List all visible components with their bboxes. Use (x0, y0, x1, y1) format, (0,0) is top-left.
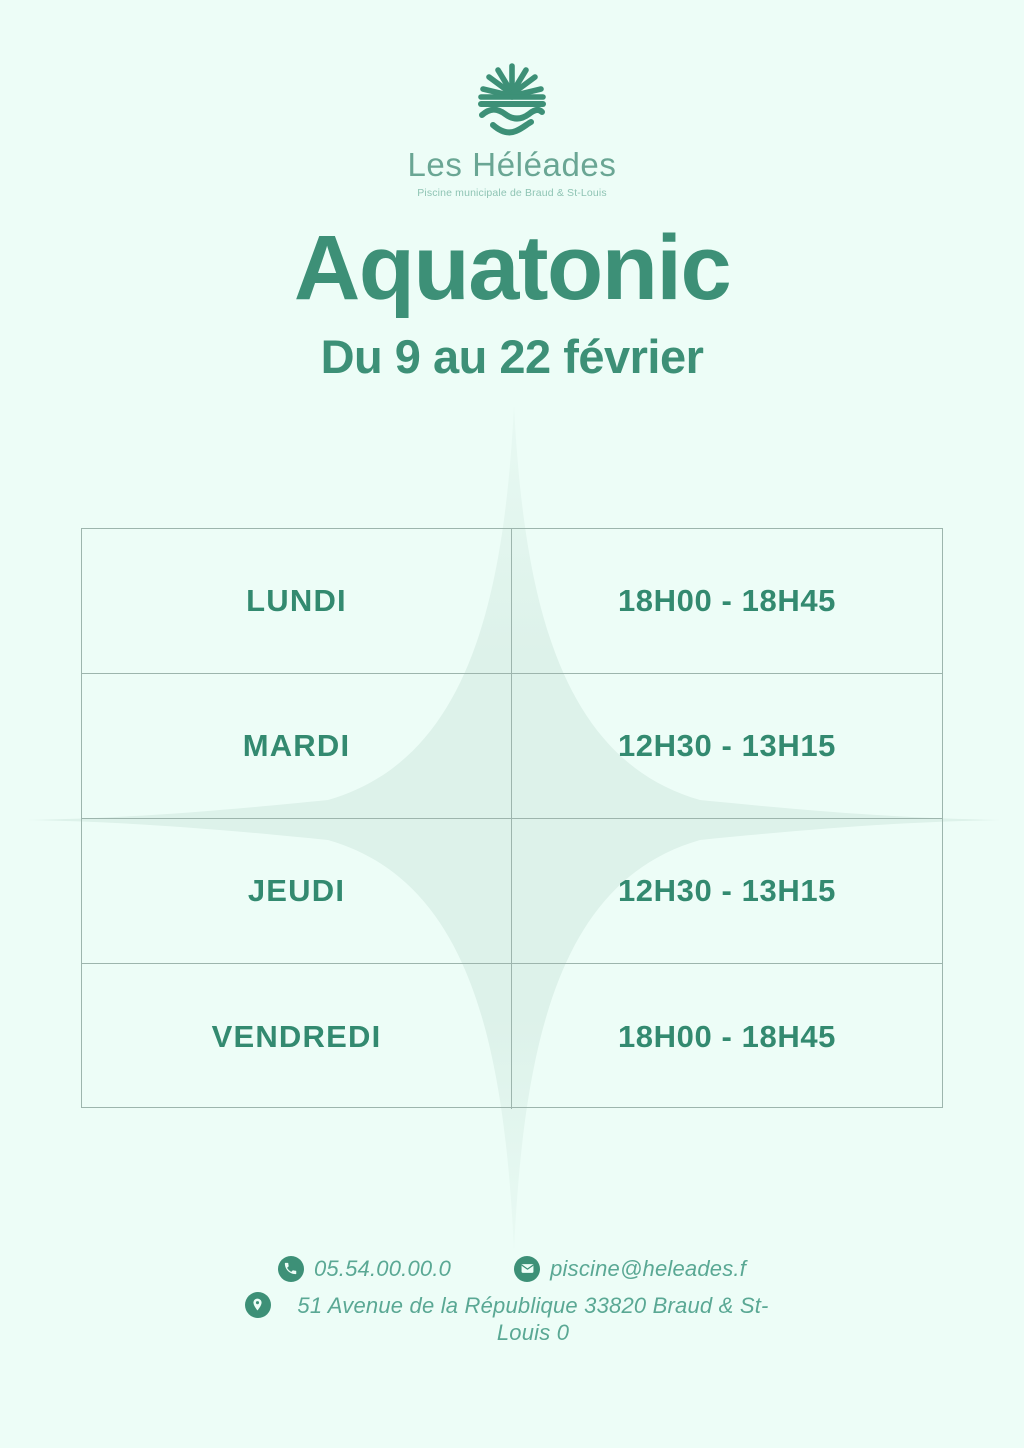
brand-tagline: Piscine municipale de Braud & St-Louis (0, 188, 1024, 199)
day-label: MARDI (243, 728, 351, 764)
schedule-table: LUNDI 18H00 - 18H45 MARDI 12H30 - 13H15 … (81, 528, 943, 1108)
poster-title: Aquatonic (0, 222, 1024, 314)
contact-block: 05.54.00.00.0 piscine@heleades.f (0, 1255, 1024, 1347)
table-cell-time: 18H00 - 18H45 (512, 529, 942, 673)
brand-block: Les Héléades Piscine municipale de Braud… (0, 62, 1024, 199)
contact-email[interactable]: piscine@heleades.f (514, 1255, 746, 1283)
email-address: piscine@heleades.f (550, 1255, 746, 1283)
sun-over-waves-icon (472, 62, 552, 136)
contact-address[interactable]: 51 Avenue de la République 33820 Braud &… (0, 1292, 1024, 1347)
table-cell-day: VENDREDI (82, 964, 512, 1109)
table-row: MARDI 12H30 - 13H15 (82, 674, 942, 819)
poster-canvas: Les Héléades Piscine municipale de Braud… (0, 0, 1024, 1448)
time-label: 18H00 - 18H45 (618, 1019, 836, 1055)
table-cell-time: 18H00 - 18H45 (512, 964, 942, 1109)
table-row: VENDREDI 18H00 - 18H45 (82, 964, 942, 1109)
brand-name: Les Héléades (0, 148, 1024, 181)
location-pin-icon (245, 1292, 271, 1318)
time-label: 18H00 - 18H45 (618, 583, 836, 619)
table-cell-time: 12H30 - 13H15 (512, 819, 942, 963)
day-label: VENDREDI (212, 1019, 382, 1055)
table-cell-time: 12H30 - 13H15 (512, 674, 942, 818)
day-label: JEUDI (248, 873, 345, 909)
table-cell-day: LUNDI (82, 529, 512, 673)
address-text: 51 Avenue de la République 33820 Braud &… (281, 1292, 786, 1347)
table-row: LUNDI 18H00 - 18H45 (82, 529, 942, 674)
contact-phone[interactable]: 05.54.00.00.0 (278, 1255, 451, 1283)
phone-icon (278, 1256, 304, 1282)
contact-row-primary: 05.54.00.00.0 piscine@heleades.f (0, 1255, 1024, 1283)
table-row: JEUDI 12H30 - 13H15 (82, 819, 942, 964)
envelope-icon (514, 1256, 540, 1282)
time-label: 12H30 - 13H15 (618, 873, 836, 909)
phone-number: 05.54.00.00.0 (314, 1255, 451, 1283)
poster-date-range: Du 9 au 22 février (0, 333, 1024, 380)
day-label: LUNDI (246, 583, 347, 619)
table-cell-day: MARDI (82, 674, 512, 818)
time-label: 12H30 - 13H15 (618, 728, 836, 764)
table-cell-day: JEUDI (82, 819, 512, 963)
